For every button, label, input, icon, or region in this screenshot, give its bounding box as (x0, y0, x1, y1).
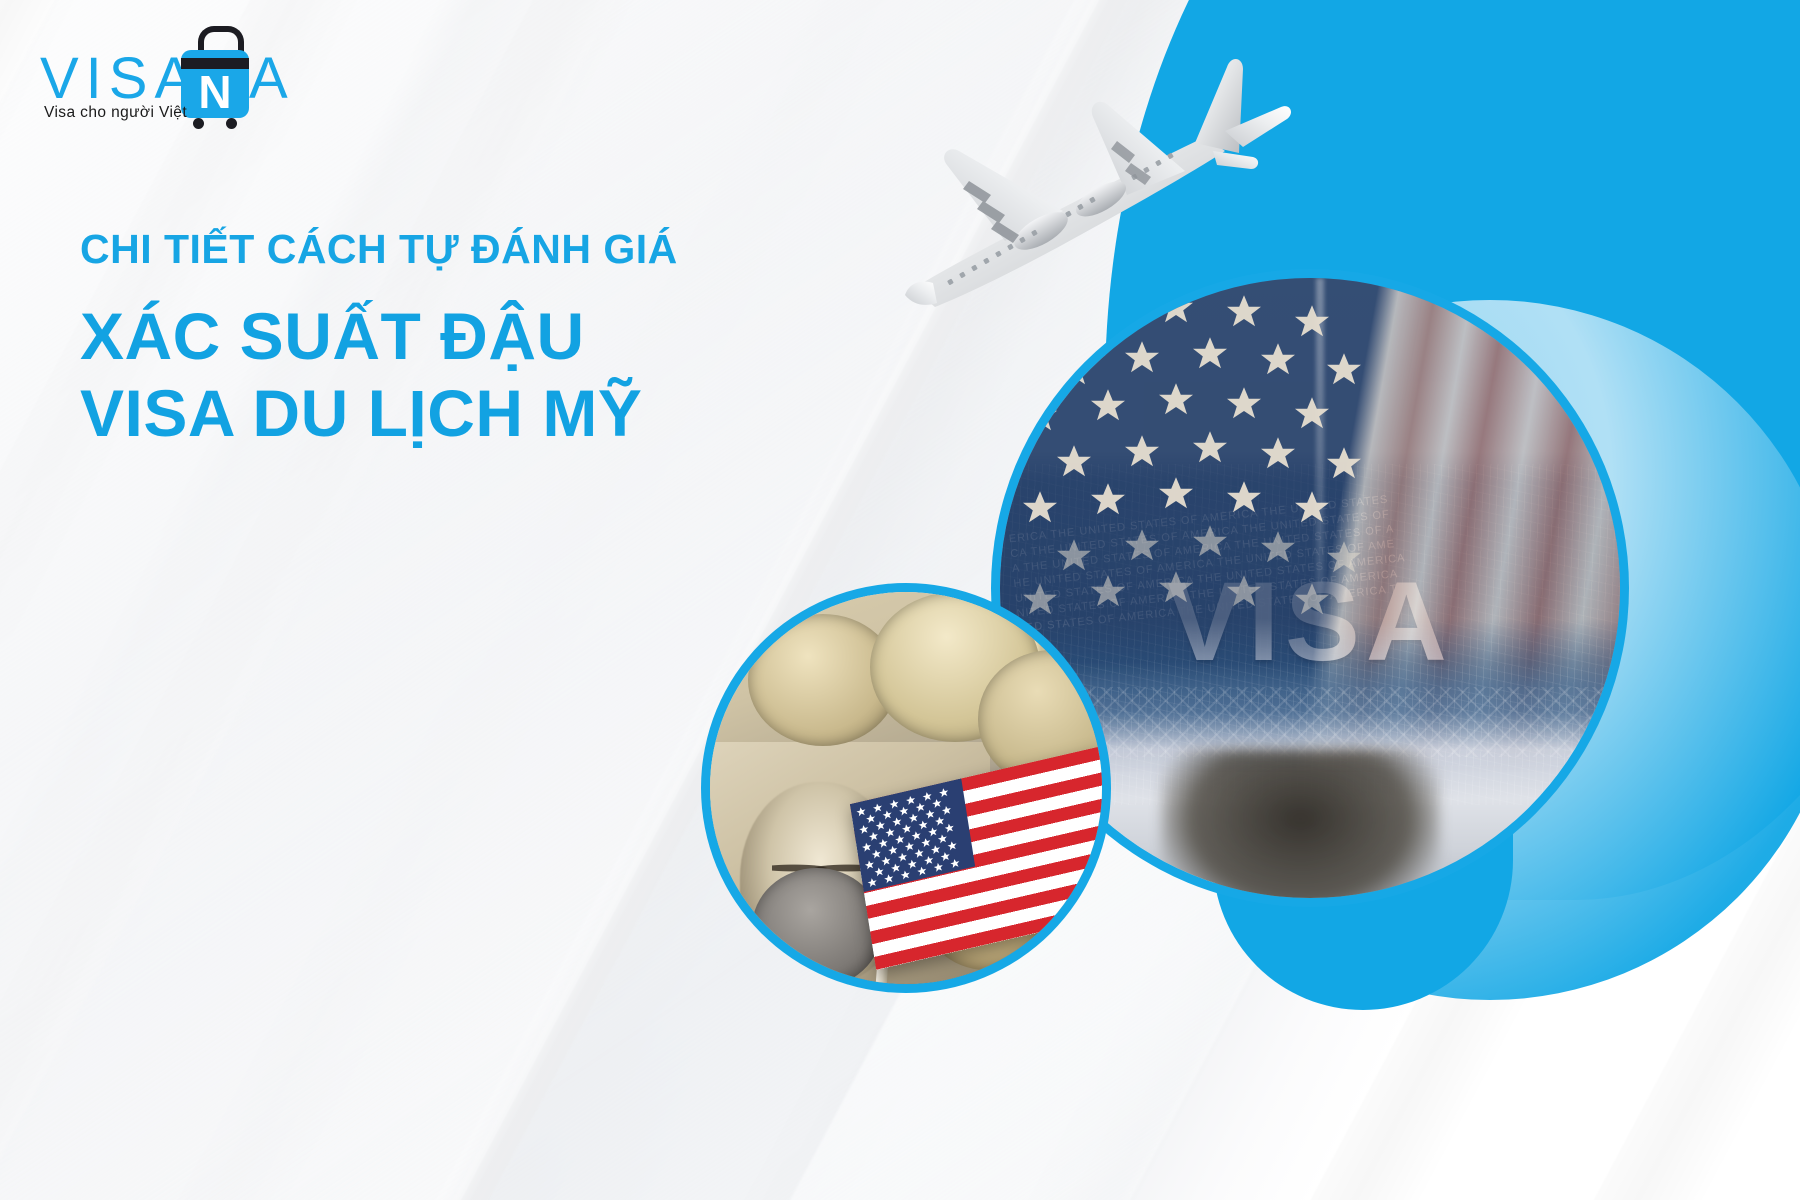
airplane-icon (895, 45, 1315, 315)
headline-line-2: VISA DU LỊCH MỸ (80, 376, 840, 451)
headline-kicker: CHI TIẾT CÁCH TỰ ĐÁNH GIÁ (80, 228, 840, 271)
banner-canvas: ERICA THE UNITED STATES OF AMERICA THE U… (0, 0, 1800, 1200)
logo-wordmark: VISANA (40, 50, 295, 108)
suitcase-letter: N (181, 66, 249, 118)
visana-logo[interactable]: VISANA N Visa cho người Việt (34, 18, 294, 128)
money-flag-photo (710, 592, 1102, 984)
suitcase-icon: N (176, 26, 254, 130)
logo-tagline: Visa cho người Việt (44, 104, 187, 122)
headline-line-1: XÁC SUẤT ĐẬU (80, 299, 840, 374)
suitcase-wheel (226, 118, 237, 129)
suitcase-wheel (193, 118, 204, 129)
headline-block: CHI TIẾT CÁCH TỰ ĐÁNH GIÁ XÁC SUẤT ĐẬU V… (80, 228, 840, 452)
money-artwork (710, 592, 1102, 984)
